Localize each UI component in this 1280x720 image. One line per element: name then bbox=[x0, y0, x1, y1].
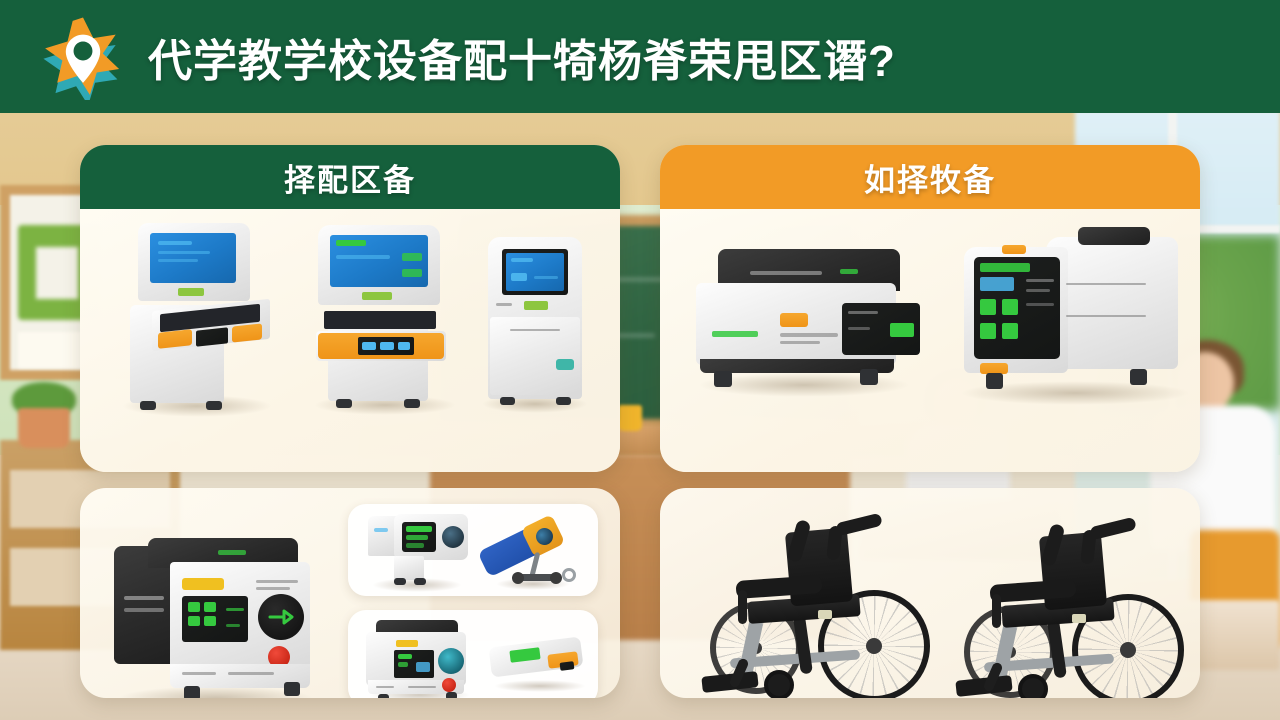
accessory-subcard-top[interactable] bbox=[348, 504, 598, 596]
card-top-right-header: 如择牧备 bbox=[660, 145, 1200, 209]
card-top-right-body bbox=[660, 209, 1200, 472]
benchtop-analyzer-wide bbox=[690, 247, 920, 392]
large-analyzer-green-display bbox=[108, 536, 323, 698]
handheld-scanner-stand bbox=[478, 510, 584, 592]
page-title: 代学教学校设备配十犄杨脊荣甩区谮? bbox=[148, 25, 896, 89]
compact-reader-device bbox=[364, 514, 472, 590]
card-top-left-header: 择配区备 bbox=[80, 145, 620, 209]
kiosk-analyzer-angled bbox=[116, 219, 276, 409]
card-top-left[interactable]: 择配区备 bbox=[80, 145, 620, 472]
manual-wheelchair-left bbox=[700, 506, 940, 698]
accessory-subcard-bottom[interactable] bbox=[348, 610, 598, 698]
kiosk-analyzer-front bbox=[310, 223, 460, 409]
handheld-module bbox=[490, 638, 590, 690]
manual-wheelchair-right bbox=[950, 512, 1190, 698]
benchtop-reader-teal-dial bbox=[362, 618, 480, 698]
card-bottom-left[interactable] bbox=[80, 488, 620, 698]
cabinet-analyzer bbox=[480, 237, 590, 407]
star-location-pin-logo bbox=[40, 14, 126, 100]
page-header: 代学教学校设备配十犄杨脊荣甩区谮? bbox=[0, 0, 1280, 113]
card-bottom-right[interactable] bbox=[660, 488, 1200, 698]
card-top-right[interactable]: 如择牧备 bbox=[660, 145, 1200, 472]
card-grid: 择配区备 bbox=[0, 113, 1280, 720]
card-top-left-body bbox=[80, 209, 620, 472]
benchtop-analyzer-touch bbox=[950, 223, 1200, 403]
